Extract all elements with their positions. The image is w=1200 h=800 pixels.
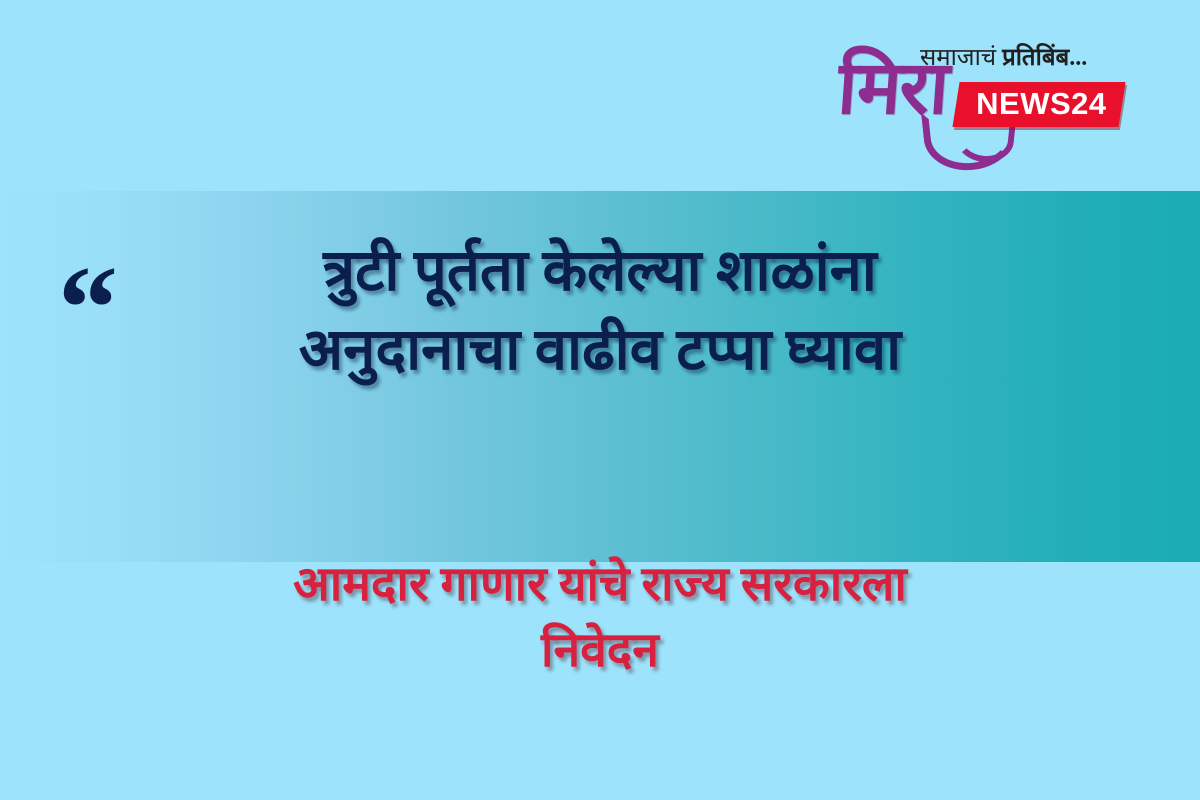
brand-logo[interactable]: मिरा समाजाचं प्रतिबिंब... NEWS24 (838, 30, 1108, 160)
quotation-mark-icon: “ (58, 248, 112, 368)
subheadline: आमदार गाणार यांचे राज्य सरकारला निवेदन (0, 552, 1200, 684)
headline: “ त्रुटी पूर्तता केलेल्या शाळांना अनुदान… (0, 232, 1200, 390)
subheadline-line-1: आमदार गाणार यांचे राज्य सरकारला (0, 552, 1200, 618)
logo-tagline: समाजाचं प्रतिबिंब... (920, 46, 1087, 70)
logo-news-badge: NEWS24 (952, 82, 1126, 127)
logo-news-badge-label: NEWS24 (976, 88, 1106, 119)
subheadline-line-2: निवेदन (0, 618, 1200, 684)
logo-tagline-thin: समाजाचं (920, 45, 1002, 71)
headline-line-1: त्रुटी पूर्तता केलेल्या शाळांना (0, 232, 1200, 311)
logo-tagline-bold: प्रतिबिंब... (1002, 45, 1087, 71)
news-card: मिरा समाजाचं प्रतिबिंब... NEWS24 “ त्रुट… (0, 0, 1200, 800)
headline-line-2: अनुदानाचा वाढीव टप्पा घ्यावा (0, 311, 1200, 390)
